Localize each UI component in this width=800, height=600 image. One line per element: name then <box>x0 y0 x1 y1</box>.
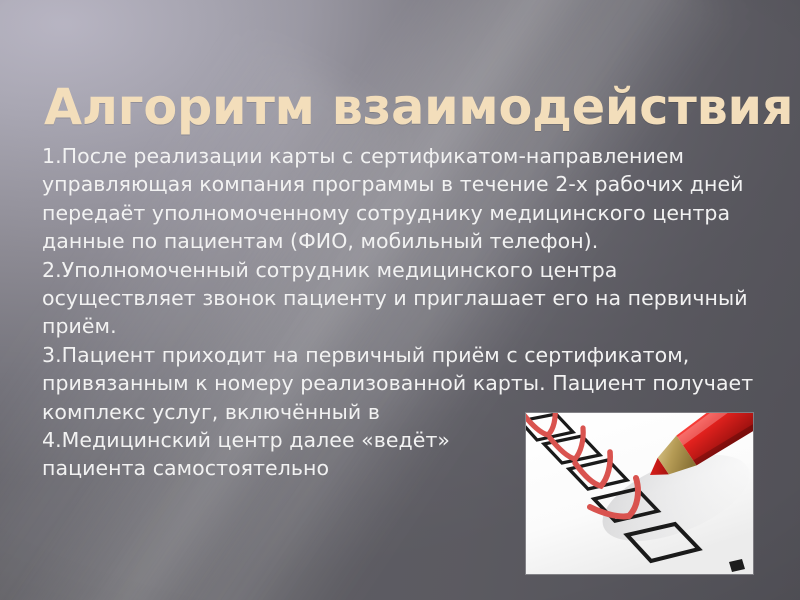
body-paragraph-1: 1.После реализации карты с сертификатом-… <box>42 142 758 256</box>
presentation-slide: Алгоритм взаимодействия 1.После реализац… <box>0 0 800 600</box>
slide-title: Алгоритм взаимодействия <box>44 78 748 136</box>
checklist-with-red-pencil-photo <box>526 413 753 574</box>
checklist-illustration <box>526 413 753 574</box>
body-paragraph-2: 2.Уполномоченный сотрудник медицинского … <box>42 256 758 341</box>
